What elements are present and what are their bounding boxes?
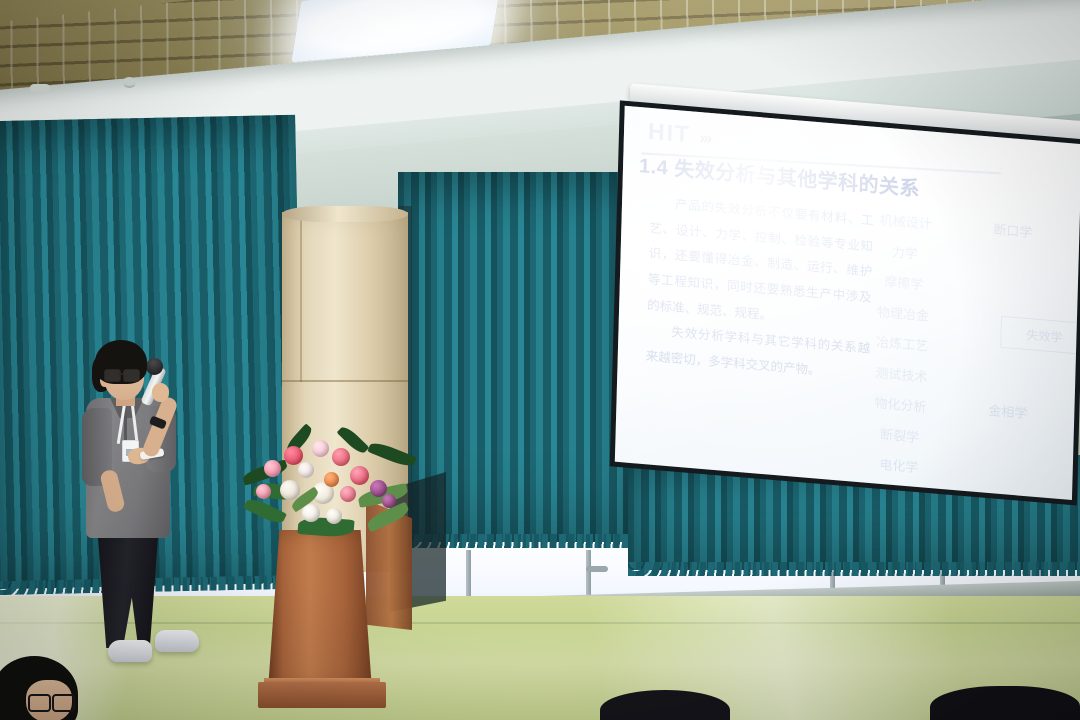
presenter-hand-right — [152, 383, 169, 402]
wooden-lectern — [268, 530, 372, 690]
window-handle[interactable] — [586, 566, 608, 572]
podium-base — [258, 682, 386, 708]
eyeglasses-icon — [104, 369, 144, 380]
pillar-seam — [300, 212, 302, 382]
lecture-hall-photo: HIT ››› 1.4 失效分析与其他学科的关系 产品的失效分析不仅要有材料、工… — [0, 0, 1080, 720]
wall-fixture — [30, 84, 50, 92]
presenter-shoe-left — [108, 640, 152, 662]
floor-reflection — [0, 596, 1080, 720]
projection-screen: HIT ››› 1.4 失效分析与其他学科的关系 产品的失效分析不仅要有材料、工… — [609, 100, 1080, 529]
presenter-shoe-right — [155, 630, 199, 652]
audience-eyeglasses-icon — [28, 694, 74, 708]
smoke-detector-icon — [123, 77, 136, 86]
audience-head-foreground-right — [930, 686, 1080, 720]
screen-glare — [615, 106, 1080, 500]
curtain-hem — [628, 562, 1080, 576]
slide-surface: HIT ››› 1.4 失效分析与其他学科的关系 产品的失效分析不仅要有材料、工… — [615, 106, 1080, 500]
pillar-cap — [282, 206, 408, 222]
floral-arrangement — [240, 432, 420, 542]
